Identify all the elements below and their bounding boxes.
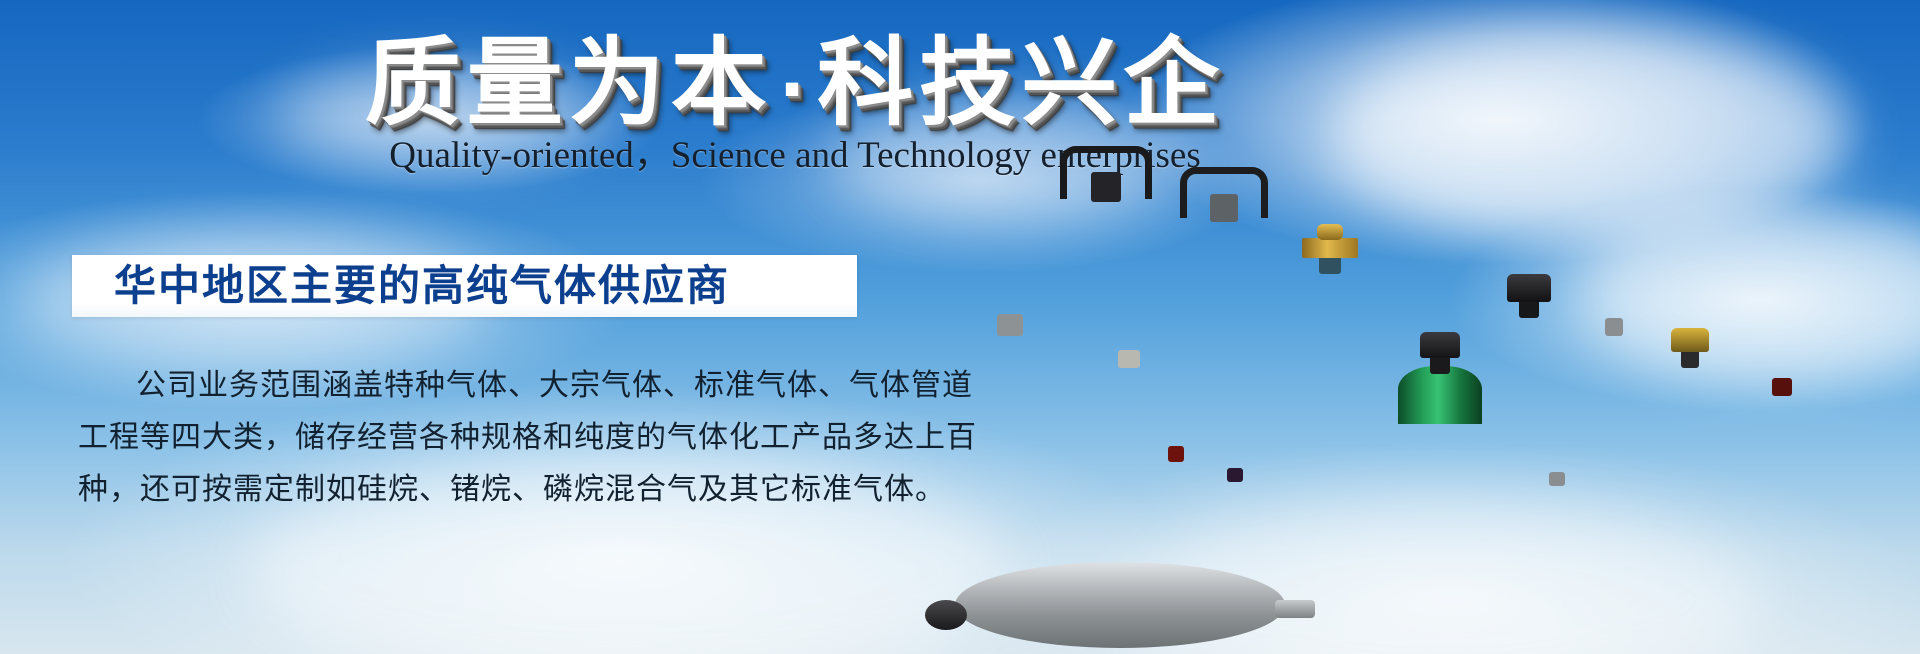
paragraph-line-1: 公司业务范围涵盖特种气体、大宗气体、标准气体、气体管道 xyxy=(78,360,868,412)
gas-cylinder-photo-group xyxy=(1150,0,1920,654)
paragraph-line-3: 种，还可按需定制如硅烷、锗烷、磷烷混合气及其它标准气体。 xyxy=(78,464,868,516)
highlight-box: 华中地区主要的高纯气体供应商 xyxy=(72,255,857,317)
page-title: 质量为本·科技兴企 xyxy=(330,24,1260,149)
highlight-box-text: 华中地区主要的高纯气体供应商 xyxy=(72,263,730,309)
cylinder-lying-neck xyxy=(1275,600,1315,618)
headline-left: 质量为本 xyxy=(365,27,773,139)
cylinder-green-shoulder xyxy=(1398,364,1482,654)
cylinder-teal-striped xyxy=(1282,254,1378,654)
promo-banner: 质量为本·科技兴企 Quality-oriented，Science and T… xyxy=(0,0,1920,654)
headline-separator: · xyxy=(773,49,818,131)
cylinder-dark-red xyxy=(1736,384,1828,654)
cylinder-silver-small xyxy=(1522,479,1592,654)
cylinder-silver-valve xyxy=(1648,354,1732,654)
cylinder-lying-gray xyxy=(955,562,1285,648)
description-paragraph: 公司业务范围涵盖特种气体、大宗气体、标准气体、气体管道 工程等四大类，储存经营各… xyxy=(78,360,868,516)
cylinder-lying-valve xyxy=(925,600,967,630)
paragraph-line-2: 工程等四大类，储存经营各种规格和纯度的气体化工产品多达上百 xyxy=(78,412,868,464)
